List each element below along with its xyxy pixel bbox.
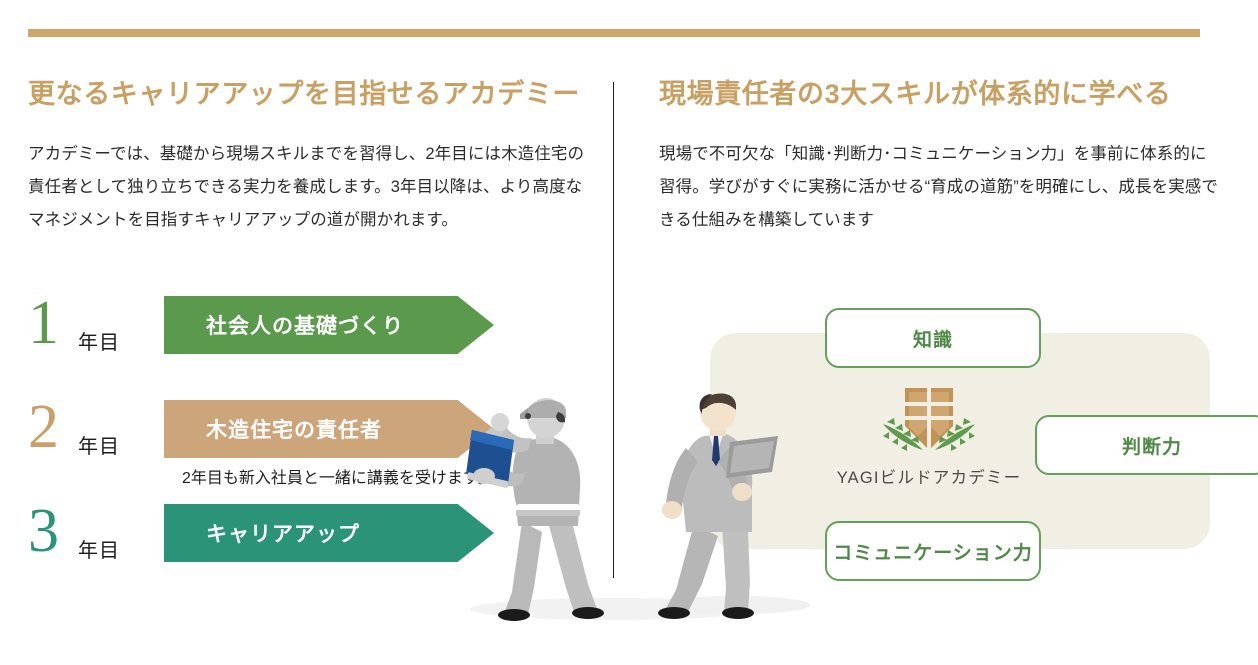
skill-box-judgement: 判断力 xyxy=(1035,415,1258,475)
top-gold-rule xyxy=(28,29,1200,37)
year-number-1: 1 xyxy=(28,292,59,354)
skill-box-knowledge: 知識 xyxy=(825,308,1041,368)
academy-logo: YAGIビルドアカデミー xyxy=(829,378,1029,488)
timeline-arrow-label-3: キャリアアップ xyxy=(164,518,360,548)
right-column: 現場責任者の3大スキルが体系的に学べる 現場で不可欠な「知識･判断力･コミュニケ… xyxy=(659,78,1219,238)
skill-label-knowledge: 知識 xyxy=(913,325,953,352)
timeline-arrow-year2: 木造住宅の責任者 xyxy=(164,400,494,458)
skill-label-communication: コミュニケーション力 xyxy=(833,538,1033,565)
year-number-2: 2 xyxy=(28,396,59,458)
shield-laurel-emblem-icon xyxy=(875,378,983,462)
year-number-3: 3 xyxy=(28,500,59,562)
timeline-arrow-year3: キャリアアップ xyxy=(164,504,494,562)
page-root: 更なるキャリアアップを目指せるアカデミー アカデミーでは、基礎から現場スキルまで… xyxy=(0,0,1258,665)
left-section-body: アカデミーでは、基礎から現場スキルまでを習得し、2年目には木造住宅の責任者として… xyxy=(28,138,588,238)
timeline-arrow-year1: 社会人の基礎づくり xyxy=(164,296,494,354)
left-column: 更なるキャリアアップを目指せるアカデミー アカデミーでは、基礎から現場スキルまで… xyxy=(28,78,588,238)
left-section-title: 更なるキャリアアップを目指せるアカデミー xyxy=(28,78,588,112)
career-timeline: 1 年目 社会人の基礎づくり 2 年目 木造住宅の責任者 2年目も新入社員と一緒… xyxy=(22,296,522,596)
right-section-body: 現場で不可欠な「知識･判断力･コミュニケーション力」を事前に体系的に習得。学びが… xyxy=(659,138,1219,238)
timeline-arrow-label-1: 社会人の基礎づくり xyxy=(164,310,404,340)
construction-worker-illustration xyxy=(462,392,622,622)
skill-box-communication: コミュニケーション力 xyxy=(825,521,1041,581)
businessman-illustration xyxy=(652,392,812,622)
timeline-row-year1: 1 年目 社会人の基礎づくり xyxy=(22,296,522,368)
timeline-arrow-label-2: 木造住宅の責任者 xyxy=(164,414,382,444)
timeline-row-year3: 3 年目 キャリアアップ xyxy=(22,504,522,576)
timeline-row-year2: 2 年目 木造住宅の責任者 2年目も新入社員と一緒に講義を受けます。 xyxy=(22,400,522,472)
year-unit-1: 年目 xyxy=(78,326,120,355)
academy-logo-text: YAGIビルドアカデミー xyxy=(829,464,1029,488)
right-section-title: 現場責任者の3大スキルが体系的に学べる xyxy=(659,78,1219,112)
skill-label-judgement: 判断力 xyxy=(1122,432,1182,459)
year-unit-3: 年目 xyxy=(78,534,120,563)
timeline-note-year2: 2年目も新入社員と一緒に講義を受けます。 xyxy=(182,464,493,488)
year-unit-2: 年目 xyxy=(78,430,120,459)
